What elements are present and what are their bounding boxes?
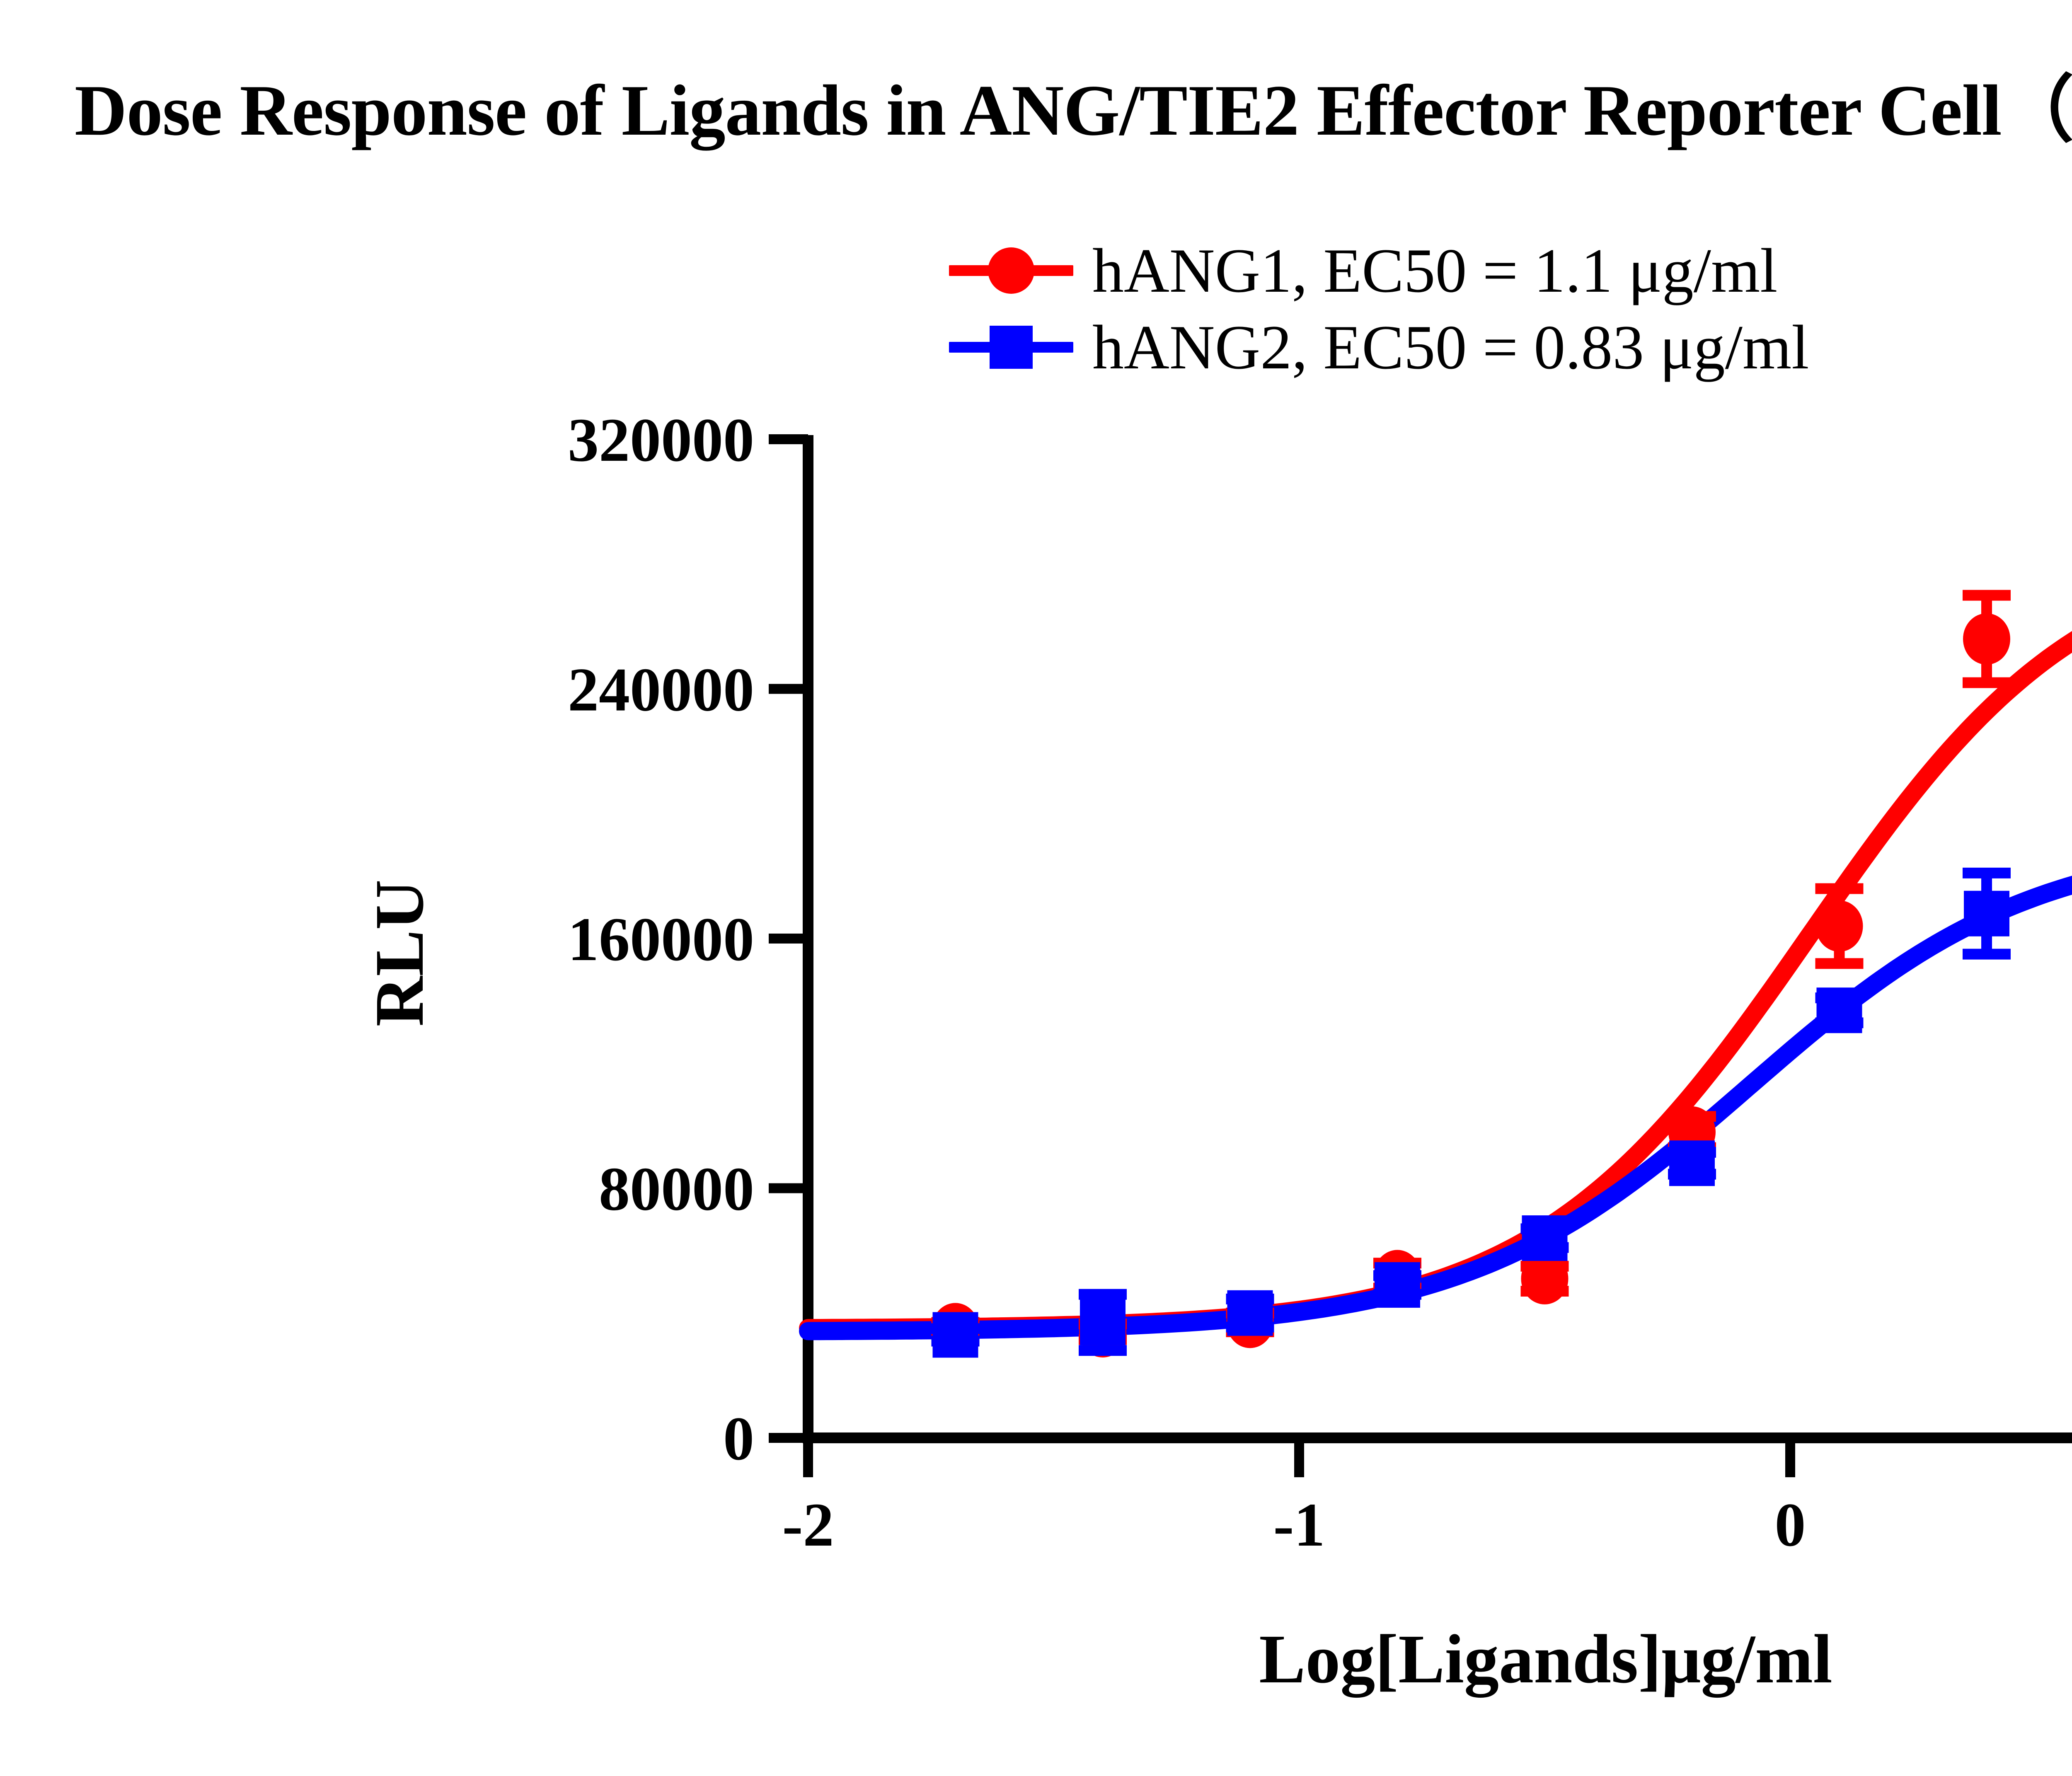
x-tick-label: -1 bbox=[1273, 1490, 1325, 1559]
data-point-group bbox=[1815, 987, 1864, 1033]
y-tick-label: 0 bbox=[723, 1404, 754, 1473]
data-point-group bbox=[1963, 595, 2011, 683]
y-tick-label: 240000 bbox=[568, 656, 754, 724]
circle-marker[interactable] bbox=[1816, 900, 1863, 952]
data-point-group bbox=[1079, 1294, 1127, 1351]
x-tick-label: 0 bbox=[1775, 1490, 1806, 1559]
x-tick-label: -2 bbox=[782, 1490, 834, 1559]
x-axis-tick-labels: -2-101 bbox=[782, 1490, 2072, 1559]
square-marker[interactable] bbox=[1375, 1262, 1420, 1308]
series-data-points bbox=[932, 464, 2072, 1357]
fit-curve bbox=[808, 564, 2072, 1328]
data-point-group bbox=[1373, 1262, 1421, 1308]
data-point-group bbox=[1668, 1140, 1716, 1186]
data-point-group bbox=[1226, 1290, 1274, 1336]
chart-page: Dose Response of Ligands in ANG/TIE2 Eff… bbox=[0, 0, 2072, 1776]
square-marker[interactable] bbox=[1669, 1140, 1715, 1186]
square-marker[interactable] bbox=[1227, 1290, 1273, 1336]
y-tick-label: 160000 bbox=[568, 905, 754, 974]
y-axis-title: RLU bbox=[361, 880, 438, 1027]
data-point-group bbox=[932, 1312, 980, 1357]
series-curves bbox=[808, 564, 2072, 1331]
data-point-group bbox=[1815, 889, 1864, 964]
x-axis-title: Log[Ligands]μg/ml bbox=[1259, 1621, 1832, 1698]
y-axis-tick-labels: 080000160000240000320000 bbox=[568, 406, 754, 1473]
fit-curve bbox=[808, 850, 2072, 1331]
square-marker[interactable] bbox=[1964, 891, 2009, 936]
y-tick-label: 320000 bbox=[568, 406, 754, 474]
data-point-group bbox=[1521, 1215, 1569, 1261]
circle-marker[interactable] bbox=[1963, 613, 2010, 665]
square-marker[interactable] bbox=[1522, 1215, 1568, 1261]
square-marker[interactable] bbox=[933, 1312, 978, 1357]
square-marker[interactable] bbox=[1817, 987, 1862, 1033]
y-tick-label: 80000 bbox=[599, 1155, 754, 1224]
data-point-group bbox=[1963, 873, 2011, 954]
square-marker[interactable] bbox=[1080, 1299, 1126, 1345]
plot-area: 080000160000240000320000 -2-101 RLU Log[… bbox=[0, 0, 2072, 1776]
